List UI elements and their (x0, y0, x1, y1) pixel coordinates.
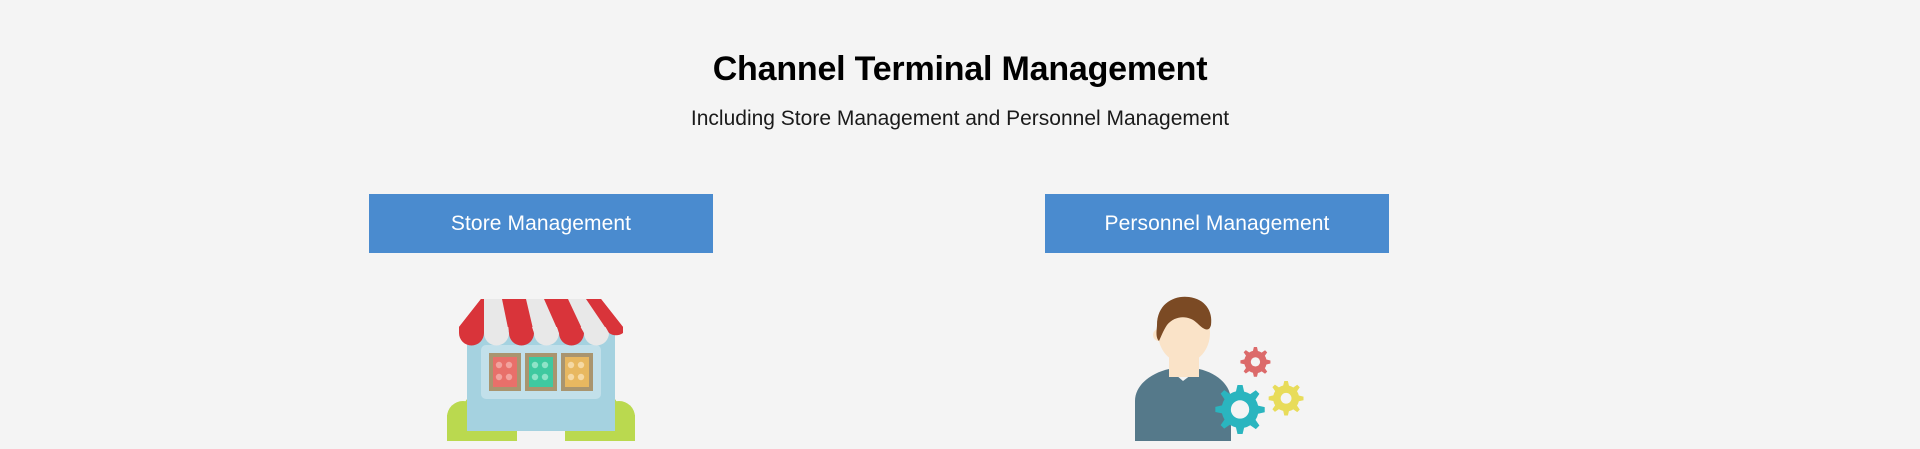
page-subtitle: Including Store Management and Personnel… (0, 108, 1920, 129)
node-personnel-management: Personnel Management (1045, 194, 1389, 449)
personnel-management-button[interactable]: Personnel Management (1045, 194, 1389, 253)
store-management-button[interactable]: Store Management (369, 194, 713, 253)
store-window-green (525, 353, 557, 391)
node-columns: Store Management (0, 194, 1920, 434)
diagram-canvas: Channel Terminal Management Including St… (0, 0, 1920, 433)
gear-red-icon (1240, 347, 1270, 377)
storefront-icon (369, 289, 713, 449)
storefront-icon-graphic (441, 289, 641, 449)
page-title: Channel Terminal Management (0, 52, 1920, 86)
gear-teal-icon (1215, 385, 1264, 434)
person-gears-icon-graphic (1117, 289, 1317, 449)
store-window-red (489, 353, 521, 391)
person-gears-icon (1045, 289, 1389, 449)
gear-yellow-icon (1269, 381, 1304, 416)
store-window-orange (561, 353, 593, 391)
node-store-management: Store Management (369, 194, 713, 449)
person-torso (1135, 369, 1231, 441)
